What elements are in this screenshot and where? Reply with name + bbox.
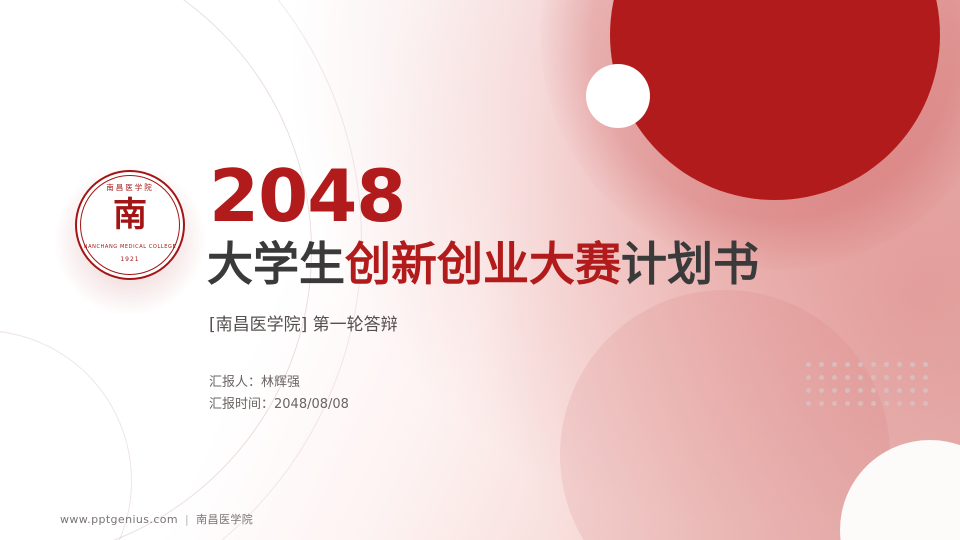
presentation-slide: 南昌医学院 南 NANCHANG MEDICAL COLLEGE 1921 20… bbox=[0, 0, 960, 540]
headline-part-3: 计划书 bbox=[621, 237, 759, 291]
slide-subtitle: [南昌医学院] 第一轮答辩 bbox=[209, 310, 398, 335]
footer-website: www.pptgenius.com bbox=[60, 513, 178, 526]
decorative-dot-grid bbox=[806, 356, 936, 408]
logo-chinese-name: 南昌医学院 bbox=[75, 182, 185, 193]
slide-year: 2048 bbox=[209, 160, 405, 232]
logo-character-icon: 南 bbox=[75, 198, 185, 232]
headline-part-2-highlight: 创新创业大赛 bbox=[345, 237, 621, 291]
logo-founding-year: 1921 bbox=[75, 256, 185, 263]
footer-organization: 南昌医学院 bbox=[196, 513, 253, 526]
decorative-white-circle-small bbox=[586, 64, 650, 128]
meta-date: 汇报时间：2048/08/08 bbox=[209, 394, 349, 416]
slide-footer: www.pptgenius.com|南昌医学院 bbox=[60, 511, 253, 527]
slide-headline: 大学生创新创业大赛计划书 bbox=[207, 238, 759, 290]
meta-presenter: 汇报人：林辉强 bbox=[209, 372, 349, 394]
logo-english-name: NANCHANG MEDICAL COLLEGE bbox=[75, 244, 185, 250]
slide-meta: 汇报人：林辉强 汇报时间：2048/08/08 bbox=[209, 372, 349, 416]
headline-part-1: 大学生 bbox=[207, 237, 345, 291]
footer-separator: | bbox=[185, 513, 189, 526]
university-logo: 南昌医学院 南 NANCHANG MEDICAL COLLEGE 1921 bbox=[75, 170, 185, 280]
